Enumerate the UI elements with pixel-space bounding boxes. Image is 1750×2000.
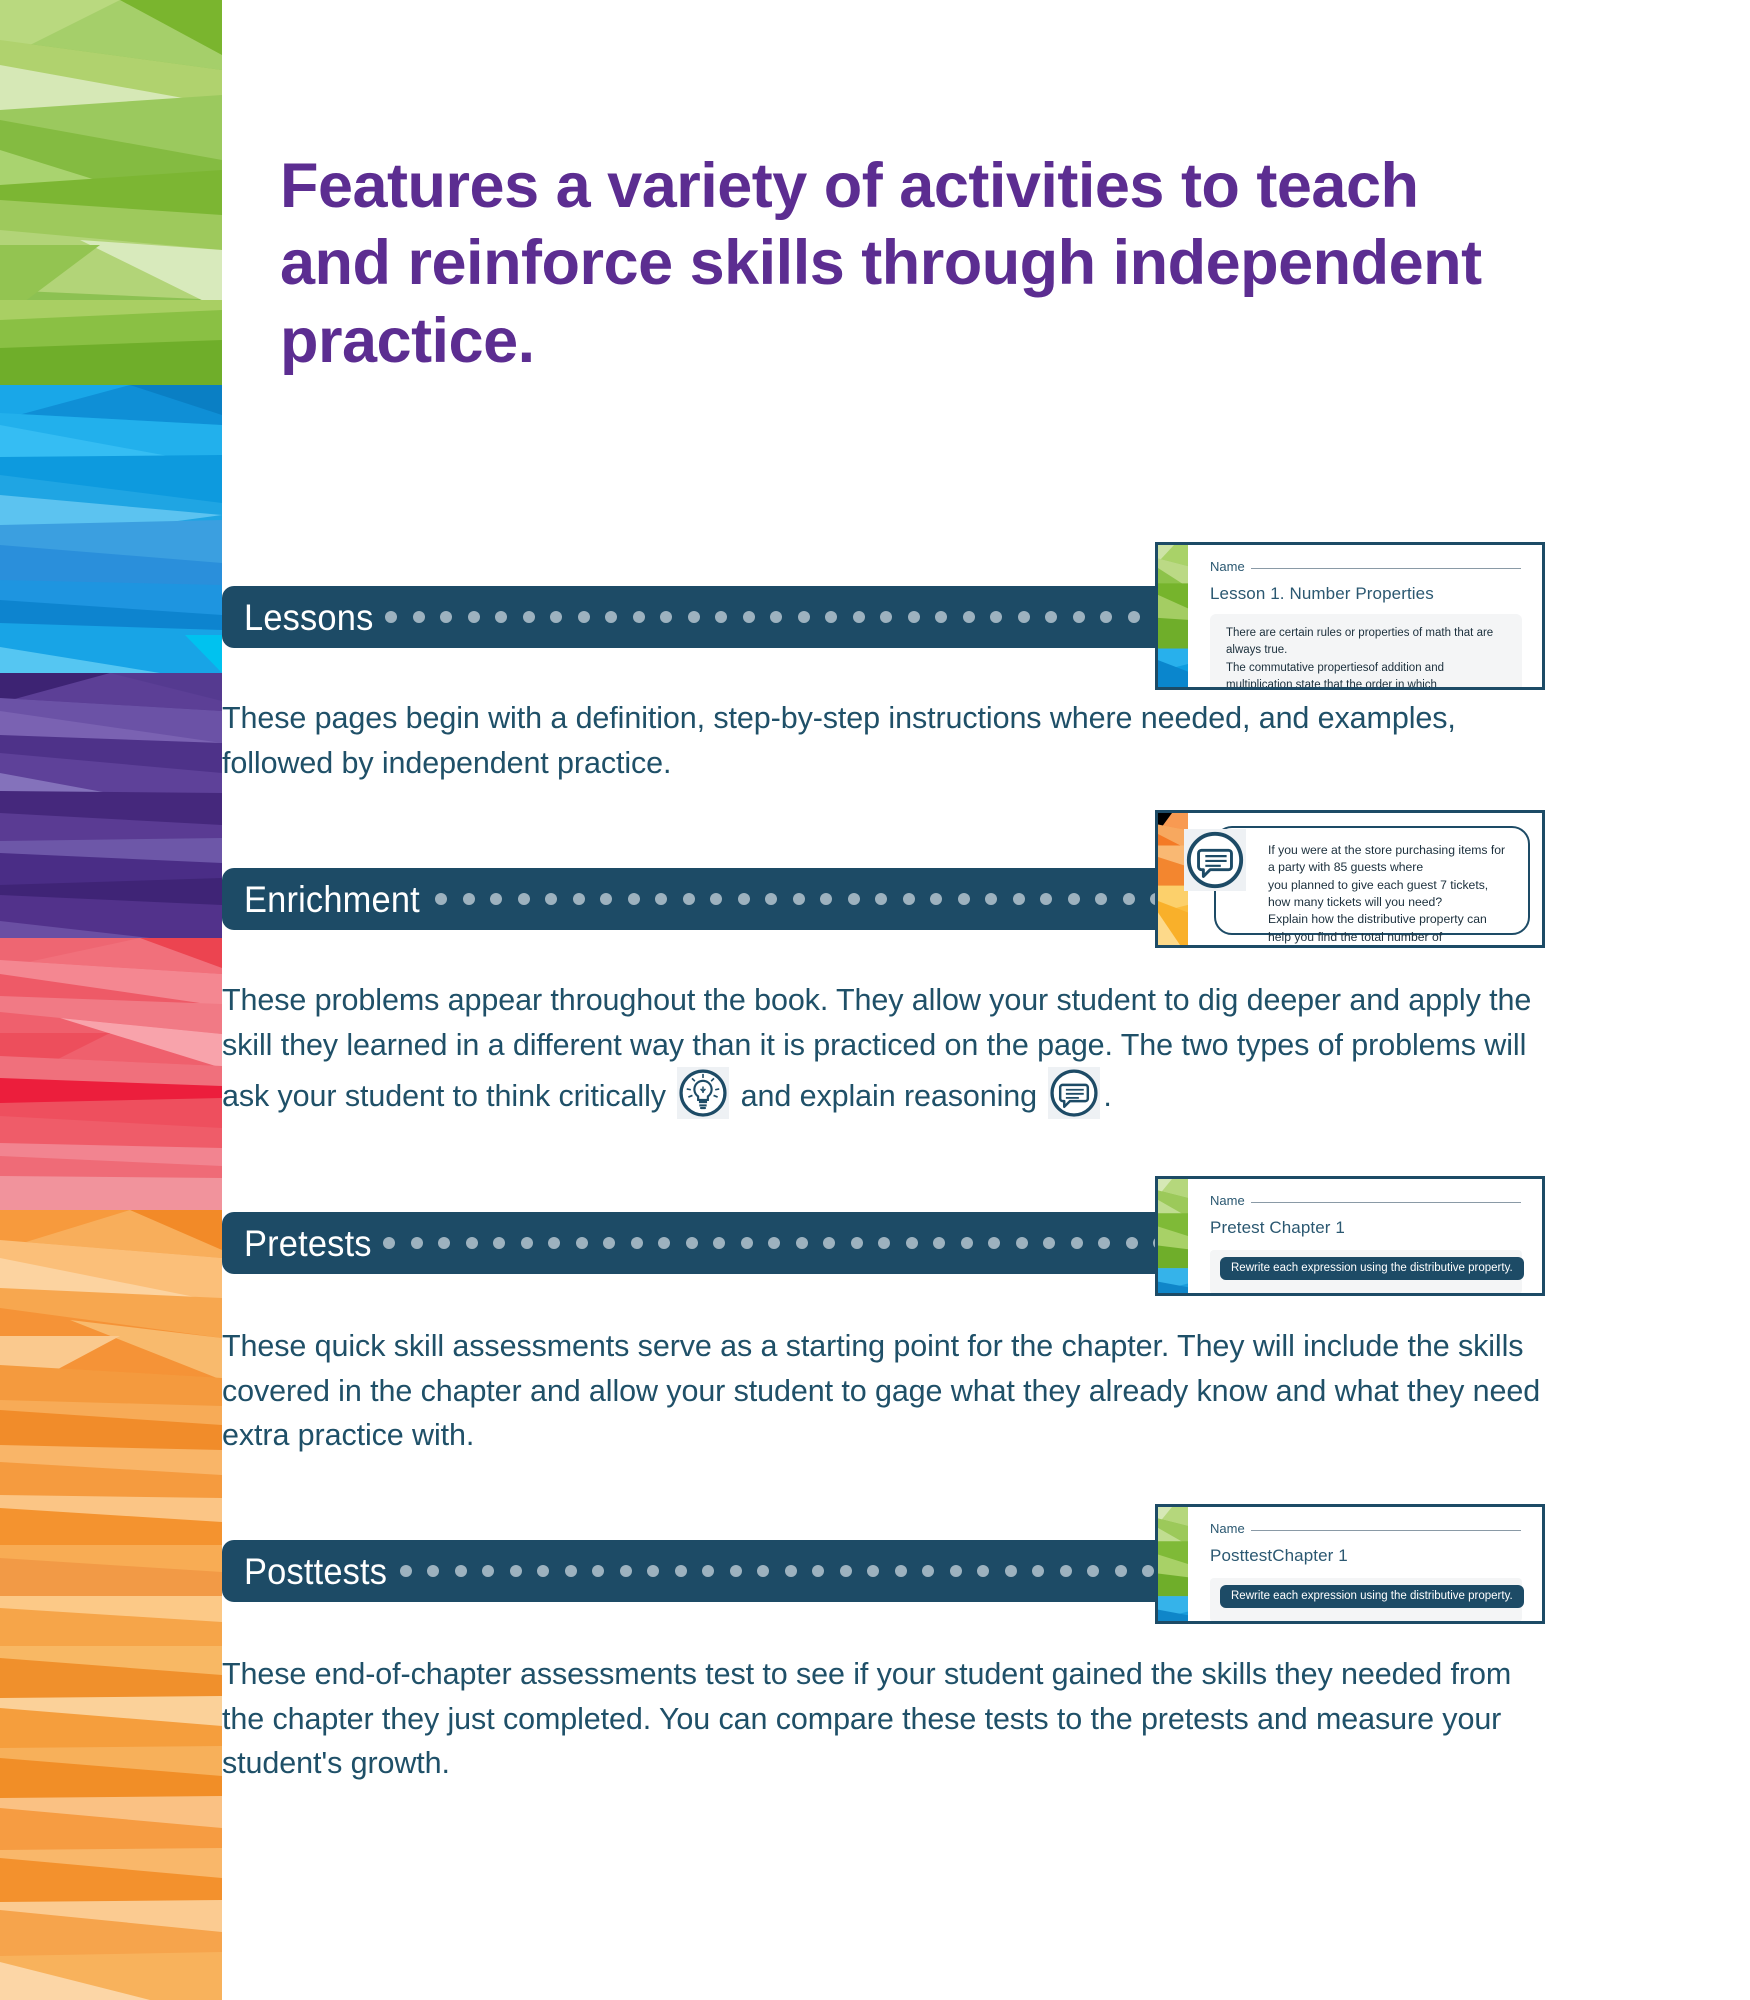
name-rule	[1251, 1530, 1521, 1531]
color-band-green	[0, 0, 222, 385]
name-label: Name	[1210, 1521, 1245, 1536]
name-rule	[1251, 1202, 1521, 1203]
color-band-red	[0, 938, 222, 1210]
enrichment-banner-label: Enrichment	[244, 881, 420, 918]
pretests-description: These quick skill assessments serve as a…	[222, 1324, 1552, 1458]
pretests-dot-leader	[383, 1237, 1213, 1249]
pretests-thumbnail-body: Name Pretest Chapter 1 Rewrite each expr…	[1188, 1179, 1542, 1293]
thumbnail-color-strip	[1158, 1179, 1188, 1293]
test-instruction-pill: Rewrite each expression using the distri…	[1220, 1585, 1524, 1608]
test-instruction-pill: Rewrite each expression using the distri…	[1220, 1257, 1524, 1280]
name-field-row: Name	[1210, 559, 1522, 574]
posttests-thumbnail[interactable]: Name PosttestChapter 1 Rewrite each expr…	[1155, 1504, 1545, 1624]
definition-line: The commutative propertiesof addition an…	[1226, 660, 1506, 691]
thumbnail-color-strip	[1158, 545, 1188, 687]
decorative-color-strip	[0, 0, 222, 2000]
name-label: Name	[1210, 559, 1245, 574]
enrichment-dot-leader	[435, 893, 1182, 905]
enrichment-text-after: .	[1103, 1079, 1111, 1113]
name-rule	[1251, 568, 1521, 569]
posttests-description: These end-of-chapter assessments test to…	[222, 1652, 1552, 1786]
lesson-title: Lesson 1. Number Properties	[1210, 584, 1522, 604]
name-field-row: Name	[1210, 1521, 1522, 1536]
color-band-blue	[0, 385, 222, 673]
lessons-dot-leader	[385, 611, 1215, 623]
lessons-thumbnail-body: Name Lesson 1. Number Properties There a…	[1188, 545, 1542, 687]
page-title: Features a variety of activities to teac…	[280, 148, 1530, 380]
lightbulb-icon	[677, 1067, 729, 1119]
main-content: Features a variety of activities to teac…	[222, 0, 1750, 2000]
lesson-definition-box: There are certain rules or properties of…	[1210, 614, 1522, 690]
posttests-banner-label: Posttests	[244, 1553, 387, 1590]
test-title: PosttestChapter 1	[1210, 1546, 1522, 1566]
color-band-purple	[0, 673, 222, 938]
lessons-banner-label: Lessons	[244, 599, 373, 636]
name-label: Name	[1210, 1193, 1245, 1208]
enrichment-question-line: Explain how the distributive property ca…	[1268, 911, 1506, 946]
color-band-orange	[0, 1210, 222, 2000]
pretests-thumbnail[interactable]: Name Pretest Chapter 1 Rewrite each expr…	[1155, 1176, 1545, 1296]
speech-bubble-icon	[1184, 829, 1246, 891]
enrichment-description: These problems appear throughout the boo…	[222, 978, 1552, 1119]
enrichment-question-card: If you were at the store purchasing item…	[1214, 826, 1530, 935]
section-pretests: Pretests	[222, 1212, 1750, 1274]
posttests-dot-leader	[400, 1565, 1230, 1577]
enrichment-question-line: If you were at the store purchasing item…	[1268, 842, 1506, 877]
test-instruction-box: Rewrite each expression using the distri…	[1210, 1578, 1522, 1622]
enrichment-question-line: you planned to give each guest 7 tickets…	[1268, 877, 1506, 912]
section-enrichment: Enrichment	[222, 868, 1750, 930]
thumbnail-color-strip	[1158, 1507, 1188, 1621]
name-field-row: Name	[1210, 1193, 1522, 1208]
section-lessons: Lessons	[222, 586, 1750, 648]
test-instruction-box: Rewrite each expression using the distri…	[1210, 1250, 1522, 1294]
test-title: Pretest Chapter 1	[1210, 1218, 1522, 1238]
posttests-thumbnail-body: Name PosttestChapter 1 Rewrite each expr…	[1188, 1507, 1542, 1621]
definition-line: There are certain rules or properties of…	[1226, 625, 1506, 660]
enrichment-thumbnail[interactable]: If you were at the store purchasing item…	[1155, 810, 1545, 948]
enrichment-text-between: and explain reasoning	[732, 1079, 1045, 1113]
enrichment-question-line: tickets you need without using a calcula…	[1268, 946, 1506, 948]
speech-bubble-icon	[1048, 1067, 1100, 1119]
lessons-description: These pages begin with a definition, ste…	[222, 696, 1552, 785]
page-root: Features a variety of activities to teac…	[0, 0, 1750, 2000]
lessons-thumbnail[interactable]: Name Lesson 1. Number Properties There a…	[1155, 542, 1545, 690]
section-posttests: Posttests	[222, 1540, 1750, 1602]
pretests-banner-label: Pretests	[244, 1225, 372, 1262]
